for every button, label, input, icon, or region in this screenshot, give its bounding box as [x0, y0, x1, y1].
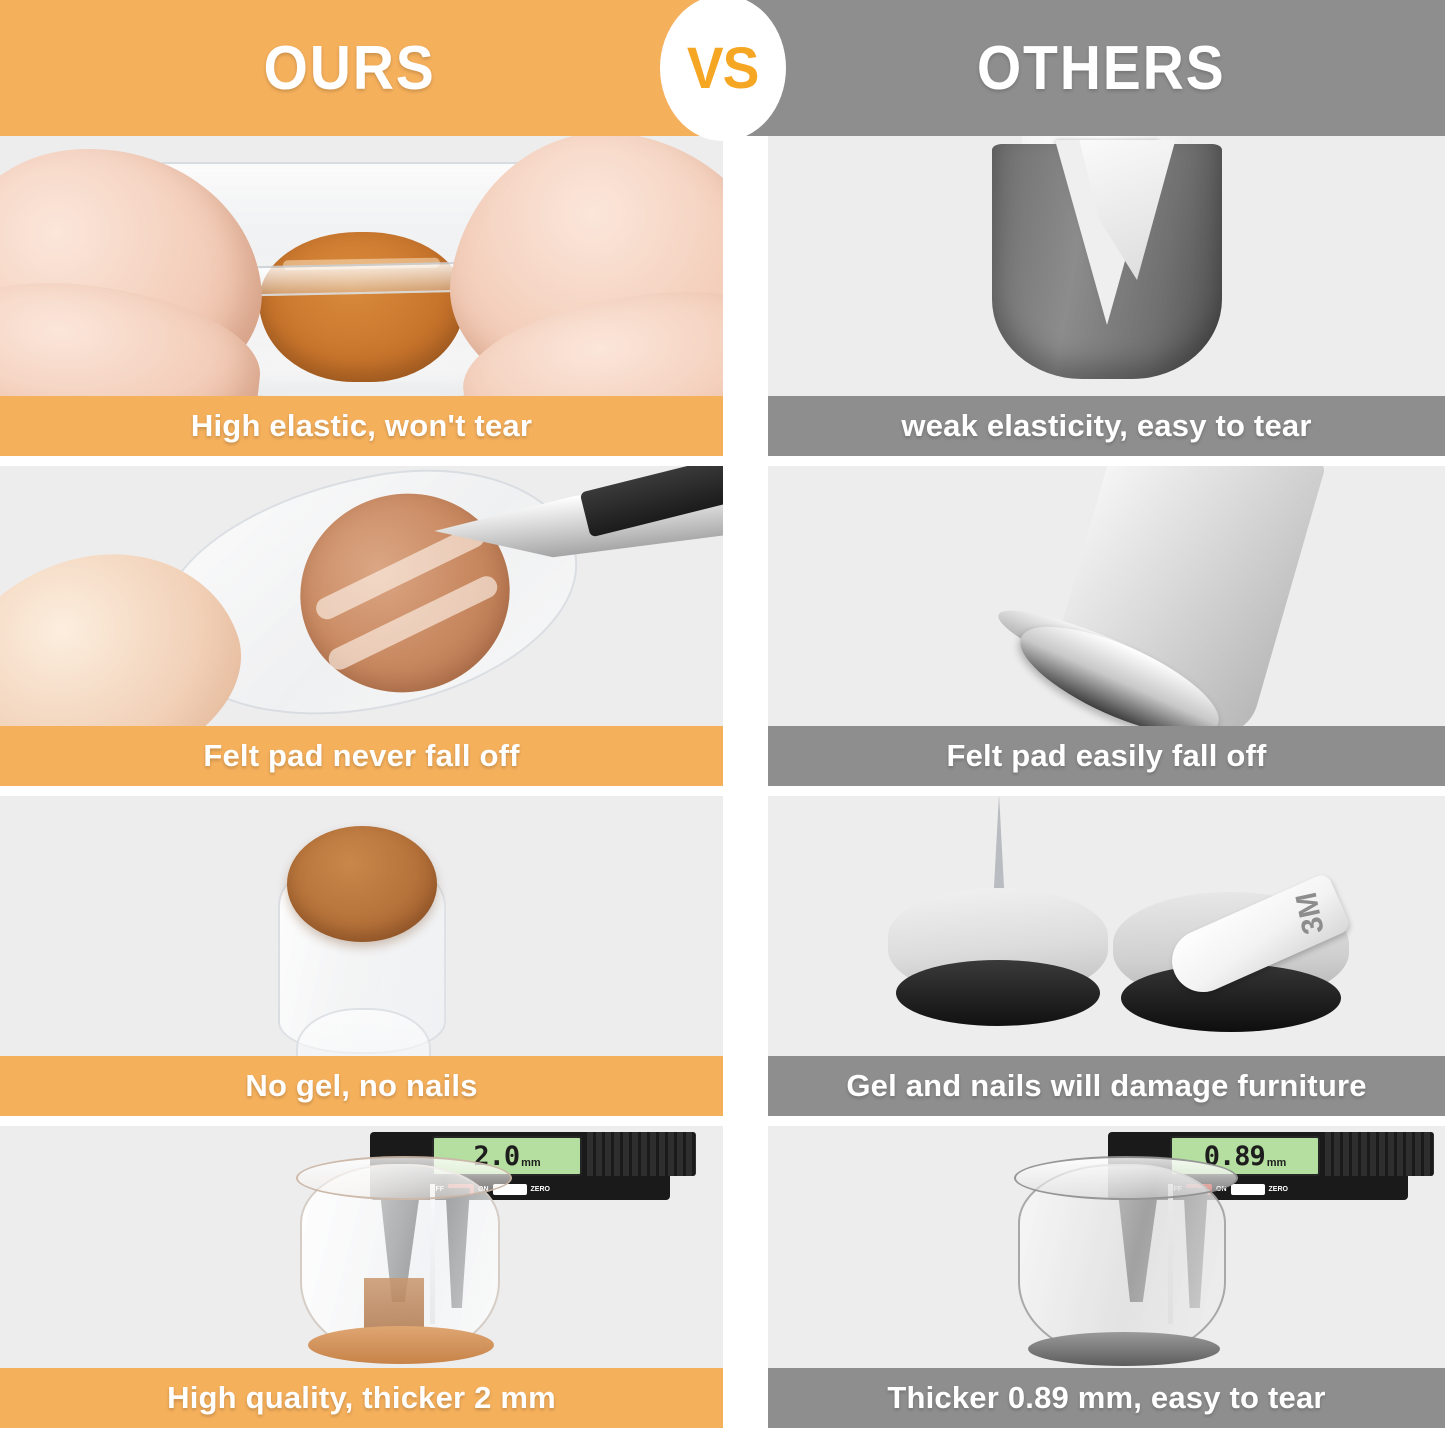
caliper-unit-others: mm	[1267, 1157, 1287, 1169]
ours-caption-felt-pad: Felt pad never fall off	[0, 726, 723, 786]
others-photo-elasticity	[768, 136, 1445, 396]
comparison-infographic: OURS OTHERS VS	[0, 0, 1445, 1448]
header-ours-panel: OURS	[0, 0, 760, 136]
ours-cell-thickness: 2.0 mm OFF ON ZERO	[0, 1126, 723, 1428]
ours-cell-mounting: No gel, no nails	[0, 796, 723, 1116]
clear-cap-felt-shape	[364, 1278, 424, 1342]
ours-caption-elasticity: High elastic, won't tear	[0, 396, 723, 456]
adhesive-pad-shape: 3M	[1113, 894, 1349, 1034]
others-cell-thickness: 0.89 mm OFF ON ZERO	[768, 1126, 1445, 1428]
tape-brand-label: 3M	[1290, 889, 1332, 937]
comparison-grid: High elastic, won't tear weak elasticity…	[0, 136, 1445, 1438]
others-cell-felt-pad: Felt pad easily fall off	[768, 466, 1445, 786]
nail-pad-base-shape	[896, 960, 1100, 1026]
others-caption-mounting: Gel and nails will damage furniture	[768, 1056, 1445, 1116]
caliper-zero-button-others[interactable]	[1231, 1184, 1265, 1195]
comparison-row-elasticity: High elastic, won't tear weak elasticity…	[0, 136, 1445, 466]
comparison-row-mounting: No gel, no nails 3M	[0, 796, 1445, 1126]
nail-glide-pad-shape	[888, 892, 1108, 1032]
others-photo-felt-pad	[768, 466, 1445, 726]
header-others-label: OTHERS	[977, 33, 1226, 104]
header-bar: OURS OTHERS VS	[0, 0, 1445, 136]
header-ours-label: OURS	[264, 33, 436, 104]
ours-caption-thickness: High quality, thicker 2 mm	[0, 1368, 723, 1428]
gray-cap-measured-shape	[1018, 1164, 1226, 1360]
comparison-row-thickness: 2.0 mm OFF ON ZERO	[0, 1126, 1445, 1438]
caliper-zero-label-ours[interactable]: ZERO	[531, 1186, 550, 1193]
ours-photo-thickness: 2.0 mm OFF ON ZERO	[0, 1126, 723, 1368]
ours-photo-felt-pad	[0, 466, 723, 726]
others-photo-mounting: 3M	[768, 796, 1445, 1056]
others-photo-thickness: 0.89 mm OFF ON ZERO	[768, 1126, 1445, 1368]
others-cell-elasticity: weak elasticity, easy to tear	[768, 136, 1445, 456]
caliper-zero-label-others[interactable]: ZERO	[1269, 1186, 1288, 1193]
clear-cap-measured-shape	[300, 1164, 500, 1360]
others-caption-elasticity: weak elasticity, easy to tear	[768, 396, 1445, 456]
ours-cell-felt-pad: Felt pad never fall off	[0, 466, 723, 786]
ours-photo-mounting	[0, 796, 723, 1056]
caliper-scale-shape	[1322, 1132, 1434, 1176]
others-caption-thickness: Thicker 0.89 mm, easy to tear	[768, 1368, 1445, 1428]
ours-caption-mounting: No gel, no nails	[0, 1056, 723, 1116]
ours-photo-elasticity	[0, 136, 723, 396]
caliper-unit-ours: mm	[521, 1157, 541, 1169]
felt-pad-shape	[259, 232, 465, 382]
caliper-scale-shape	[584, 1132, 696, 1176]
felt-pad-top-shape	[287, 826, 437, 942]
others-caption-felt-pad: Felt pad easily fall off	[768, 726, 1445, 786]
ours-cell-elasticity: High elastic, won't tear	[0, 136, 723, 456]
others-cell-mounting: 3M Gel and nails will damage furniture	[768, 796, 1445, 1116]
comparison-row-felt-pad: Felt pad never fall off Felt pad easily …	[0, 466, 1445, 796]
header-others-panel: OTHERS	[723, 0, 1445, 136]
vs-badge: VS	[660, 0, 786, 141]
vs-label: VS	[687, 35, 759, 102]
